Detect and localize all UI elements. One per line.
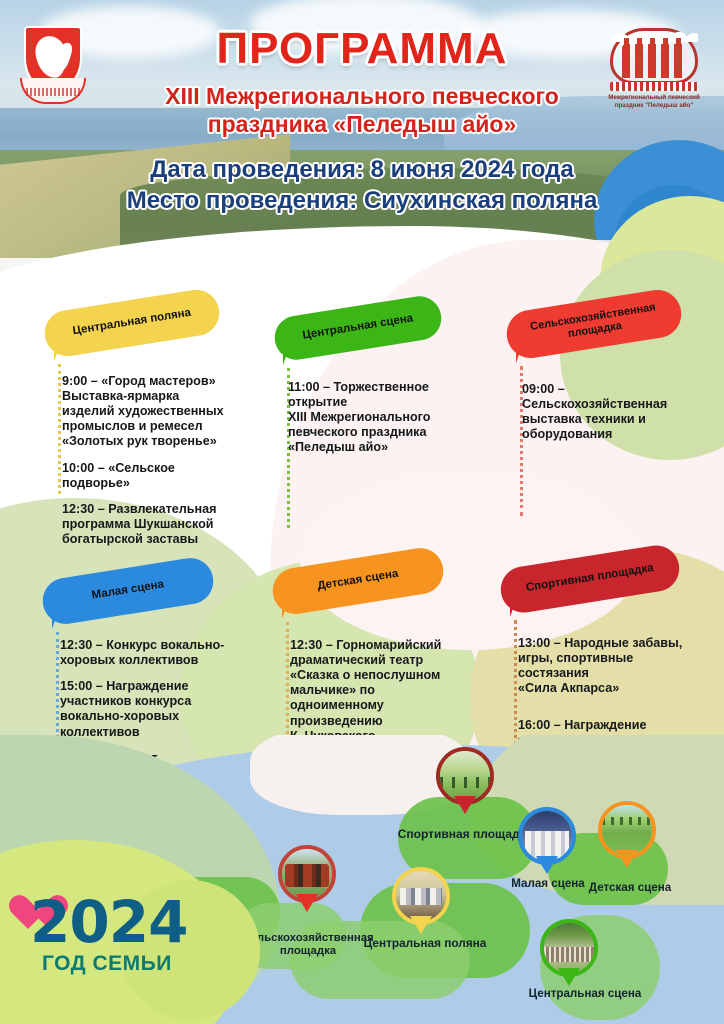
pin-spike [616, 850, 638, 868]
festival-logo-icon: Межрегиональный певческий праздник "Пеле… [606, 26, 702, 130]
logo-ornament-band [610, 82, 698, 91]
map-pin-label: Центральная поляна [352, 937, 498, 951]
pin-photo [396, 871, 446, 921]
program-item: 12:30 – Горномарийский драматический теа… [290, 638, 486, 744]
year-number: 2024 [30, 888, 186, 956]
program-column-central-meadow: 9:00 – «Город мастеров» Выставка-ярмарка… [62, 374, 258, 558]
pin-photo [440, 751, 490, 801]
pin-spike [536, 856, 558, 874]
program-item: 9:00 – «Город мастеров» Выставка-ярмарка… [62, 374, 258, 450]
venue-bubble-tail [516, 338, 534, 363]
year-of-family-logo: 2024 ГОД СЕМЬИ [16, 892, 186, 984]
pin-spike [454, 796, 476, 814]
pin-spike [558, 968, 580, 986]
program-item: 10:00 – «Сельское подворье» [62, 461, 258, 491]
venue-bubble-tail [283, 340, 301, 365]
venue-bubble-label: Малая сцена [91, 579, 165, 603]
program-item: 12:30 – Развлекательная программа Шукшан… [62, 502, 258, 547]
venue-bubble-label: Центральная поляна [72, 307, 192, 339]
pin-photo [544, 923, 594, 973]
venue-bubble-tail [282, 594, 300, 619]
venue-bubble-tail [52, 604, 70, 629]
venue-bubble-label: Центральная сцена [302, 313, 414, 344]
pin-photo [282, 849, 332, 899]
venue-bubble-label: Сельскохозяйственная площадка [529, 302, 658, 347]
program-item: 12:30 – Конкурс вокально- хоровых коллек… [60, 638, 260, 668]
coat-of-arms-icon [18, 22, 88, 110]
event-date: Дата проведения: 8 июня 2024 года [60, 155, 664, 186]
map-pin-central-meadow[interactable] [392, 867, 450, 925]
program-item: 13:00 – Народные забавы, игры, спортивны… [518, 636, 710, 696]
program-item: 09:00 – Сельскохозяйственная выставка те… [522, 382, 708, 442]
event-meta: Дата проведения: 8 июня 2024 года Место … [60, 155, 664, 216]
event-place: Место проведения: Сиухинская поляна [60, 186, 664, 217]
map-pin-sports-ground[interactable] [436, 747, 494, 805]
venue-bubble-tail [510, 592, 528, 617]
program-item: 15:00 – Награждение участников конкурса … [60, 679, 260, 739]
program-column-agricultural: 09:00 – Сельскохозяйственная выставка те… [522, 382, 708, 453]
pin-photo [602, 805, 652, 855]
map-pin-agricultural-ground[interactable] [278, 845, 336, 903]
year-caption: ГОД СЕМЬИ [42, 952, 192, 976]
map-pin-label: Детская сцена [572, 881, 688, 894]
venue-bubble-tail [54, 336, 72, 362]
map-pin-childrens-stage[interactable] [598, 801, 656, 859]
ribbon-text-shape [26, 88, 80, 96]
subtitle-line-2: праздника «Пеледыш айо» [70, 110, 654, 138]
festival-logo-caption: Межрегиональный певческий праздник "Пеле… [606, 94, 702, 110]
program-column-central-stage: 11:00 – Торжественное открытие XIII Межр… [288, 380, 478, 467]
subtitle-line-1: XIII Межрегионального певческого [70, 82, 654, 110]
map-pin-small-stage[interactable] [518, 807, 576, 865]
venue-bubble-label: Детская сцена [317, 568, 400, 594]
page-subtitle: XIII Межрегионального певческого праздни… [70, 82, 654, 138]
pin-spike [296, 894, 318, 912]
pin-photo [522, 811, 572, 861]
map-pin-central-stage[interactable] [540, 919, 598, 977]
venue-connector-dots [58, 364, 61, 494]
program-item: 11:00 – Торжественное открытие XIII Межр… [288, 380, 478, 456]
venue-bubble-label: Спортивная площадка [525, 562, 654, 595]
pin-spike [410, 916, 432, 934]
map-pin-label: Центральная сцена [512, 987, 658, 1000]
logo-figures [622, 44, 686, 78]
poster-root: ПРОГРАММА XIII Межрегионального певческо… [0, 0, 724, 1024]
